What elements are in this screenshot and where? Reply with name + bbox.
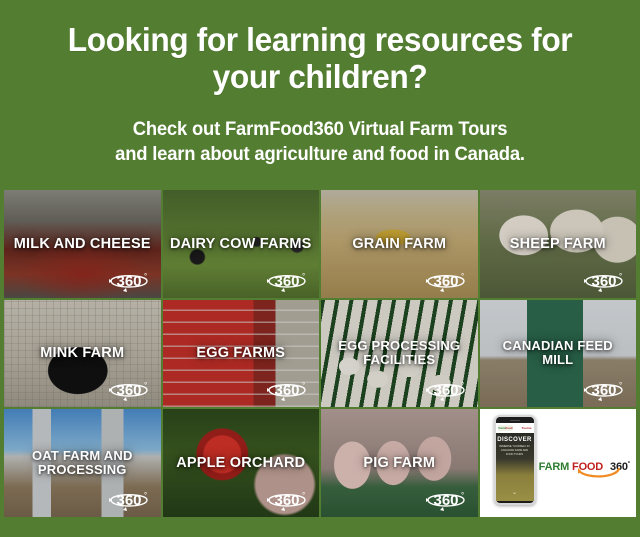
farmfood360-promo-banner: Looking for learning resources for your … <box>0 0 640 537</box>
tour-tile-apple-orchard[interactable]: APPLE ORCHARD 360° <box>163 409 320 517</box>
farmfood360-logo: FARM FOOD 360° <box>539 461 630 473</box>
tour-tile-mink-farm[interactable]: MINK FARM 360° <box>4 300 161 408</box>
app-tagline: IMMERSE YOURSELF IN CANADIAN FARM AND FO… <box>496 445 534 457</box>
tour-tile-label: OAT FARM AND PROCESSING <box>4 449 161 478</box>
tour-tile-egg-farms[interactable]: EGG FARMS 360° <box>163 300 320 408</box>
app-screen: DISCOVER IMMERSE YOURSELF IN CANADIAN FA… <box>496 433 534 501</box>
app-discover-heading: DISCOVER <box>496 437 534 443</box>
logo-degree-symbol: ° <box>628 462 630 468</box>
logo-word-farm: FARM <box>539 461 569 473</box>
tour-tile-label: APPLE ORCHARD <box>170 455 311 471</box>
tour-tile-label: MILK AND CHEESE <box>8 236 157 252</box>
tour-tile-label: GRAIN FARM <box>346 236 452 252</box>
app-topbar-right-label: Tourne <box>522 426 532 430</box>
tour-tile-oat-farm-and-processing[interactable]: OAT FARM AND PROCESSING 360° <box>4 409 161 517</box>
tour-tile-canadian-feed-mill[interactable]: CANADIAN FEED MILL 360° <box>480 300 637 408</box>
banner-subtitle: Check out FarmFood360 Virtual Farm Tours… <box>27 118 613 167</box>
tour-tile-sheep-farm[interactable]: SHEEP FARM 360° <box>480 190 637 298</box>
banner-subtitle-line-1: Check out FarmFood360 Virtual Farm Tours <box>133 119 508 140</box>
virtual-tour-grid: MILK AND CHEESE 360° DAIRY COW FARMS 360… <box>4 190 636 517</box>
tour-tile-label: PIG FARM <box>357 455 441 471</box>
app-promo-card[interactable]: FarmFood Tourne DISCOVER IMMERSE YOURSEL… <box>480 409 637 517</box>
tour-tile-grain-farm[interactable]: GRAIN FARM 360° <box>321 190 478 298</box>
tour-tile-pig-farm[interactable]: PIG FARM 360° <box>321 409 478 517</box>
logo-swoosh-icon <box>577 464 621 478</box>
tour-tile-milk-and-cheese[interactable]: MILK AND CHEESE 360° <box>4 190 161 298</box>
tour-tile-label: EGG PROCESSING FACILITIES <box>321 339 478 368</box>
tour-tile-egg-processing-facilities[interactable]: EGG PROCESSING FACILITIES 360° <box>321 300 478 408</box>
page-title: Looking for learning resources for your … <box>30 22 610 96</box>
tour-tile-label: EGG FARMS <box>190 345 291 361</box>
chevron-down-icon: ⌄ <box>496 490 534 496</box>
tour-tile-label: DAIRY COW FARMS <box>164 236 318 252</box>
tour-tile-label: MINK FARM <box>34 345 130 361</box>
banner-header: Looking for learning resources for your … <box>0 0 640 181</box>
tour-tile-label: CANADIAN FEED MILL <box>480 339 637 368</box>
app-topbar: FarmFood Tourne <box>496 423 534 433</box>
app-logo-mini: FarmFood <box>498 425 514 431</box>
tour-tile-label: SHEEP FARM <box>504 236 612 252</box>
phone-mockup: FarmFood Tourne DISCOVER IMMERSE YOURSEL… <box>494 415 536 505</box>
banner-subtitle-line-2: and learn about agriculture and food in … <box>115 144 525 165</box>
tour-tile-dairy-cow-farms[interactable]: DAIRY COW FARMS 360° <box>163 190 320 298</box>
